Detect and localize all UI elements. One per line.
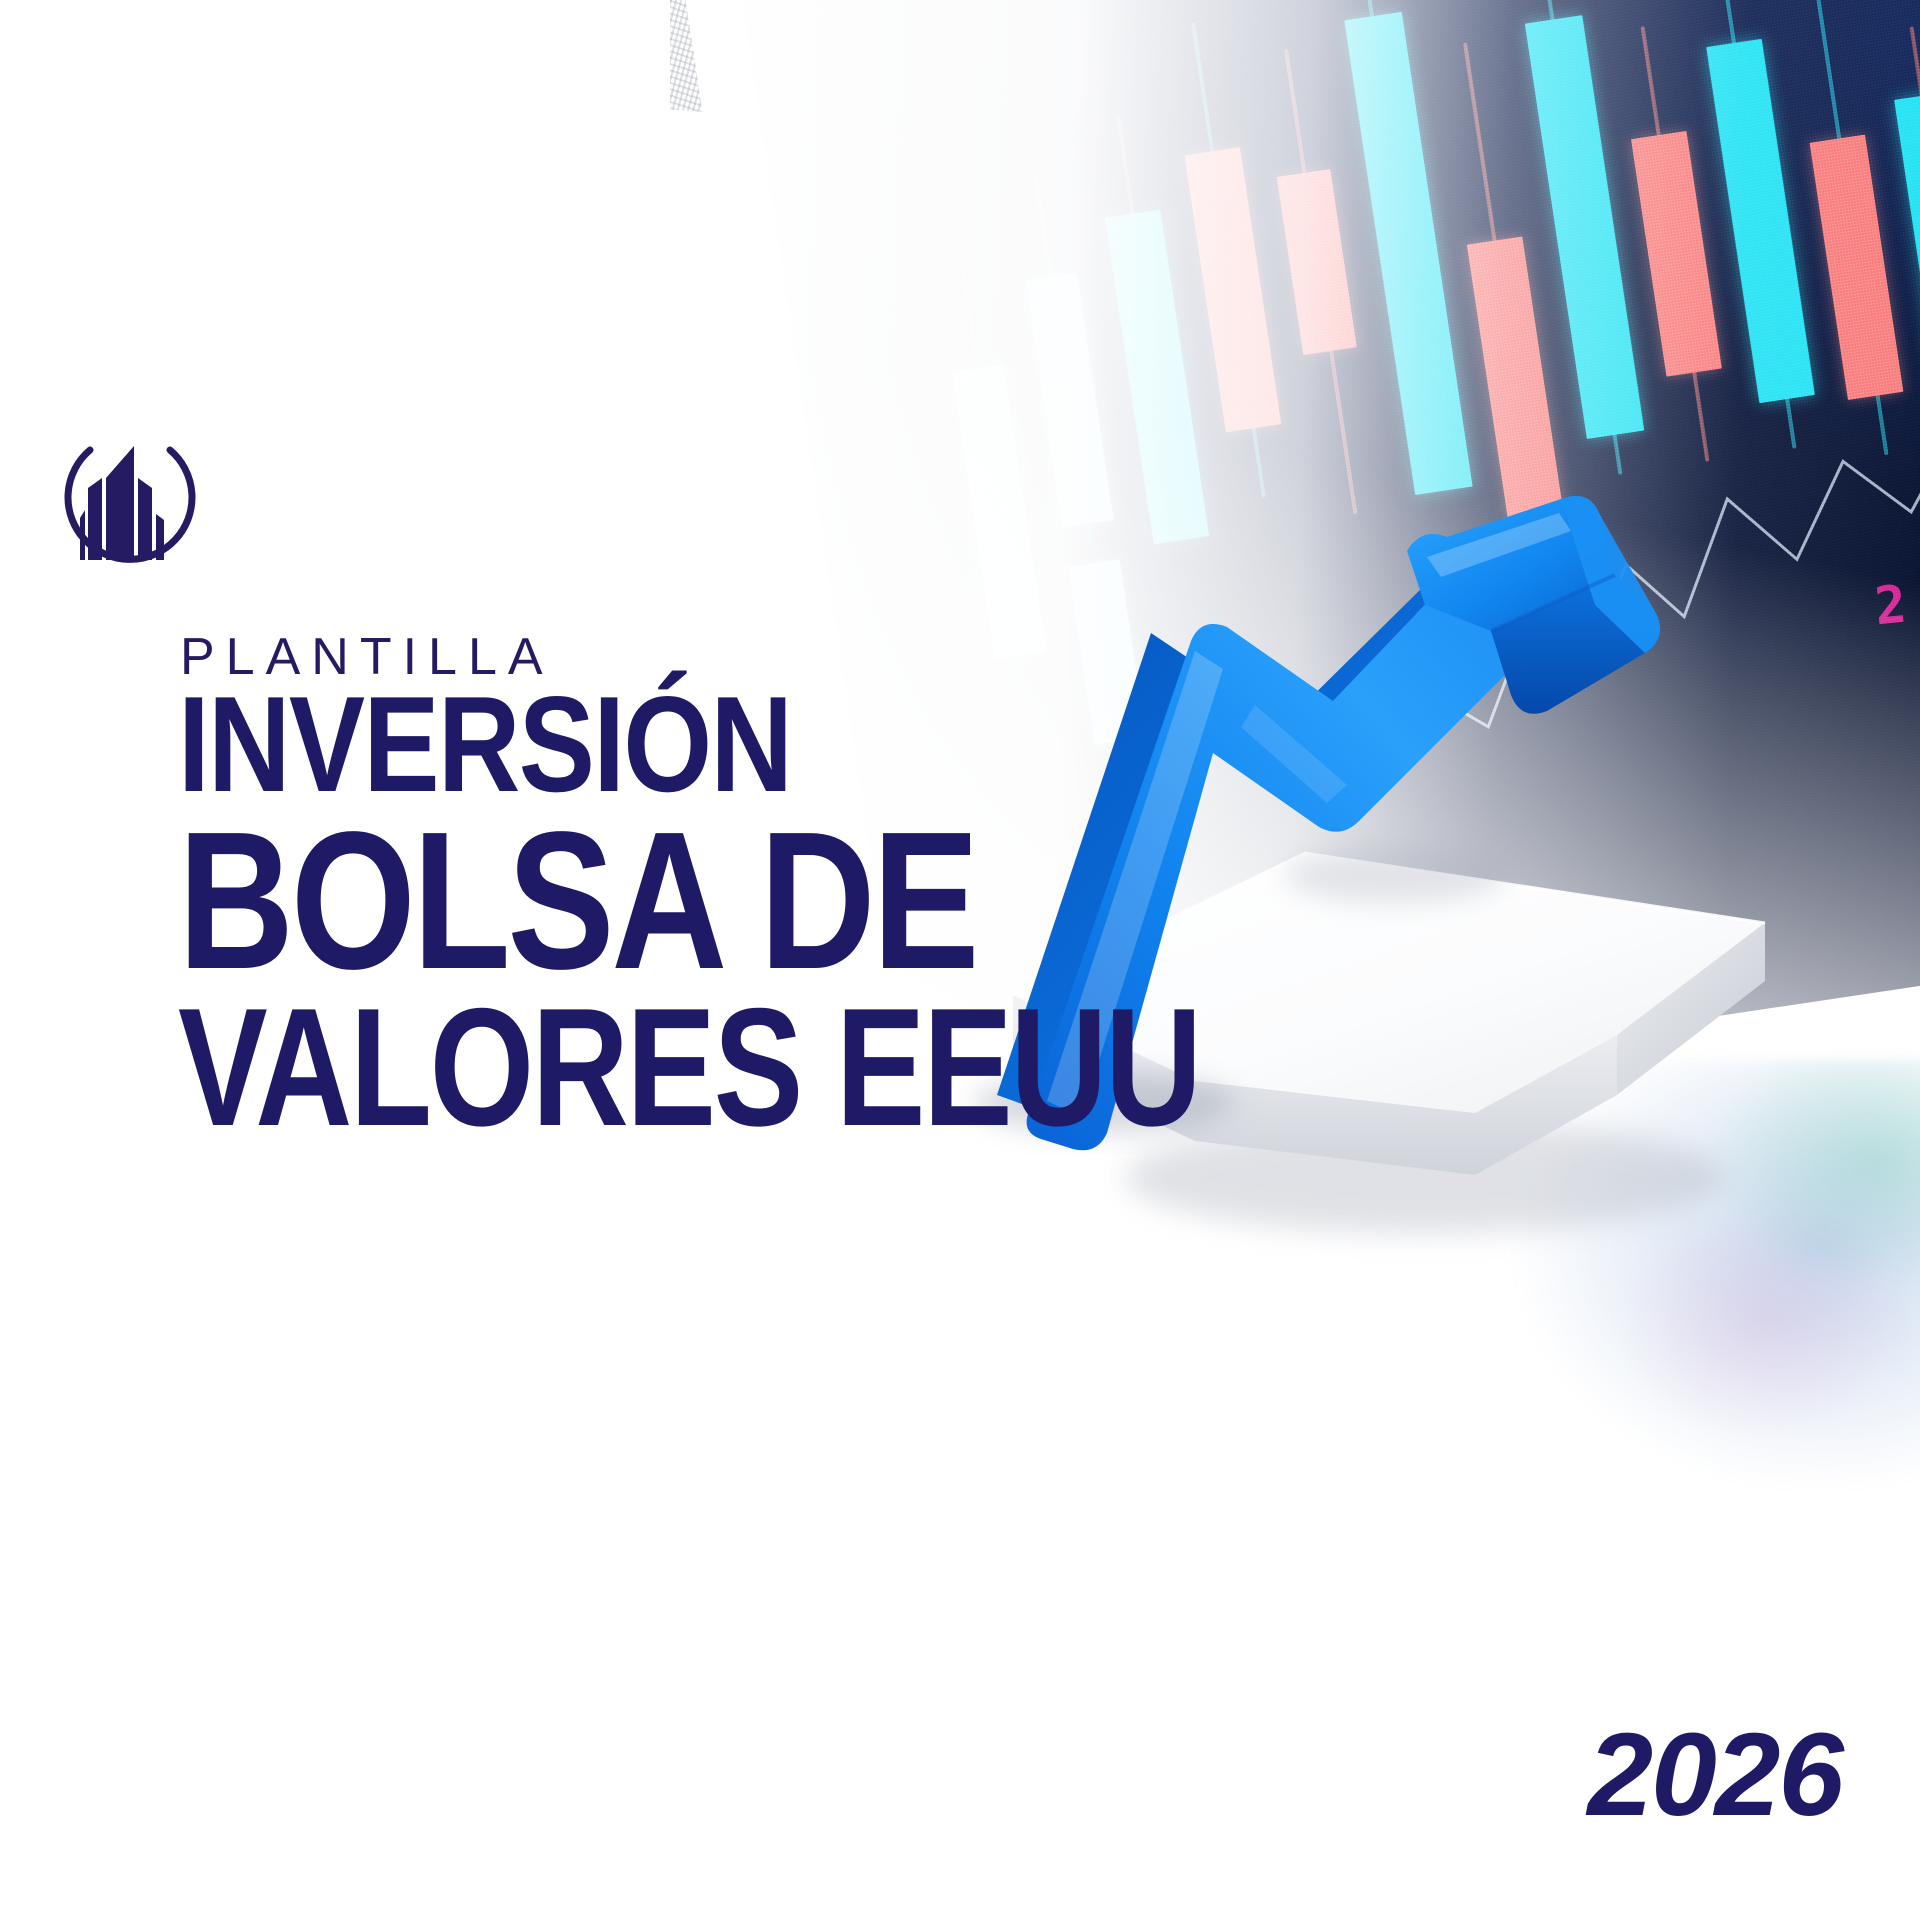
candle-body-up bbox=[1894, 92, 1920, 427]
headline-line-1: INVERSIÓN bbox=[178, 690, 791, 799]
year-label: 2026 bbox=[1587, 1716, 1842, 1834]
candle-body-up bbox=[1344, 12, 1472, 495]
candle-body-down bbox=[1277, 169, 1357, 355]
candle-wick bbox=[1716, 0, 1797, 449]
candle-wick bbox=[1191, 22, 1266, 497]
logo-skyline-icon bbox=[80, 446, 164, 560]
headline-line-3: VALORES EEUU bbox=[178, 1000, 1200, 1134]
ticker-value: 2 bbox=[1872, 575, 1910, 638]
poster-canvas: 2 2 bbox=[0, 0, 1920, 1920]
candle-body-down bbox=[1185, 147, 1282, 432]
candle-body-up bbox=[1706, 39, 1815, 403]
candle-wick bbox=[1811, 0, 1889, 455]
candle-wick bbox=[1536, 0, 1623, 475]
candle-wick bbox=[1641, 26, 1710, 462]
candle-body-up bbox=[1525, 15, 1644, 439]
candle-body-down bbox=[1810, 135, 1904, 400]
candle-wick bbox=[1364, 0, 1445, 491]
top-texture-strip bbox=[670, 0, 1920, 210]
candle-wick bbox=[1909, 26, 1920, 452]
candle-wick bbox=[1284, 49, 1357, 514]
candle-wick bbox=[1463, 42, 1531, 468]
brand-logo bbox=[52, 432, 208, 582]
headline-line-2: BOLSA DE bbox=[178, 823, 976, 980]
candle-body-down bbox=[1631, 131, 1722, 377]
